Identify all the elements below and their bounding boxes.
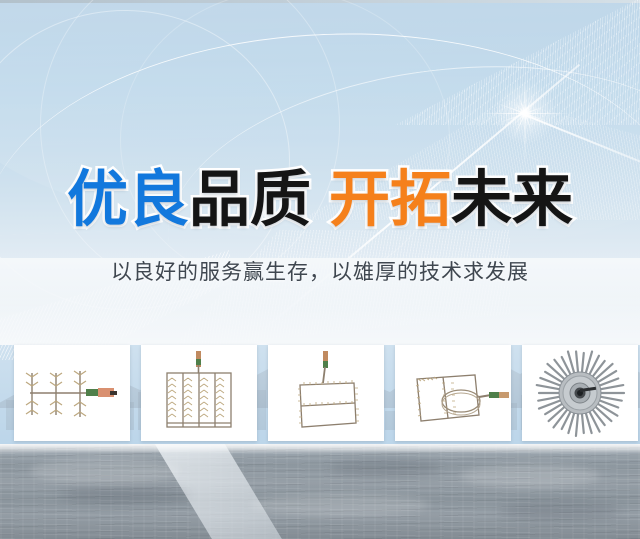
sparkle-glow [491,79,559,147]
decorative-arc-3 [120,0,450,290]
sparkle-ray [515,103,526,114]
sparkle-ray [525,103,536,114]
headline-part-2: 品质 [189,163,311,235]
sparkle-ray [525,74,526,114]
product-card-vertical-dense-hook-rack[interactable] [141,345,257,441]
headline-part-4: 未来 [451,163,573,235]
sparkle-ray [525,113,550,123]
product-card-horizontal-multi-branch-hook-rack[interactable] [14,345,130,441]
headline-part-1: 优良 [67,163,189,235]
page-subtitle: 以良好的服务赢生存，以雄厚的技术求发展 [0,256,640,290]
product-card-radial-sunburst-spoke-rack[interactable] [522,345,638,441]
decorative-arc-2 [40,0,340,290]
sparkle-ray [512,113,526,141]
sparkle-ray [479,113,525,114]
sparkle-ray [525,113,536,124]
product-card-frame-with-ring-rack[interactable] [395,345,511,441]
ground-horizon-glow [0,444,640,454]
sparkle-ray [525,92,536,114]
promotional-banner: 优良品质 开拓未来 以良好的服务赢生存，以雄厚的技术求发展 [0,0,640,539]
product-card-row [0,345,640,445]
top-edge-line [0,0,640,3]
sparkle-ray [525,106,544,114]
sparkle-ray [513,113,525,125]
sparkle-ray [525,113,533,134]
moire-fan-top-right [395,0,640,125]
sparkle-ray [517,93,525,114]
concrete-ground [0,444,640,539]
sparkle-ray [525,114,526,168]
product-card-flat-rectangular-frame-rack[interactable] [268,345,384,441]
headline-part-3: 开拓 [329,163,451,235]
page-title: 优良品质 开拓未来 [0,163,640,235]
sparkle-ray [525,113,571,114]
sparkle-ray [500,113,525,123]
sparkle-ray [497,103,526,114]
headline-spacer [311,163,329,235]
sparkle-core [518,106,532,120]
